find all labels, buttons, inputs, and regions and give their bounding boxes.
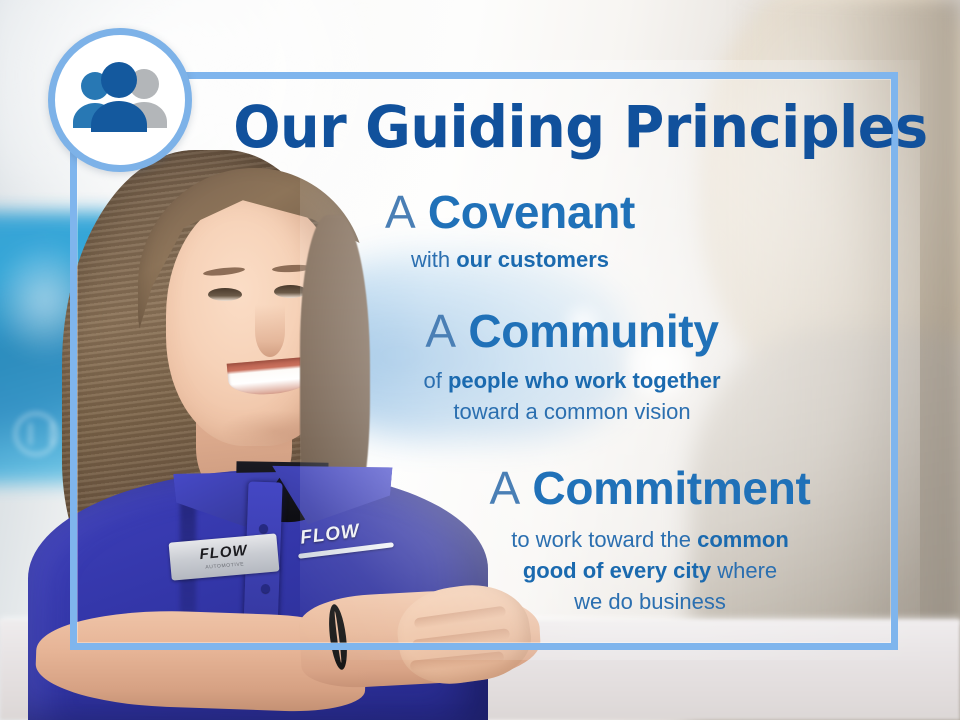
principle-article: A: [385, 186, 428, 238]
principle-subline: good of every city where: [440, 555, 860, 586]
subtext-plain: to work toward the: [511, 527, 697, 552]
name-badge-subtext: AUTOMOTIVE: [205, 561, 244, 570]
principle-subline: to work toward the common: [440, 524, 860, 555]
subtext-emphasis: good of every city: [523, 558, 711, 583]
principle-subline: toward a common vision: [392, 396, 752, 427]
name-badge-logo: FLOW: [199, 543, 248, 562]
eye-left: [208, 288, 242, 301]
shirt-button: [259, 524, 268, 533]
principle-article: A: [425, 305, 468, 357]
people-group-icon: [48, 28, 192, 172]
principle-subline: with our customers: [330, 244, 690, 275]
principle-subtext: to work toward the common good of every …: [440, 524, 860, 617]
principle-keyword: Community: [468, 305, 718, 357]
subtext-emphasis: our customers: [456, 247, 609, 272]
principle-heading: A Covenant: [330, 186, 690, 238]
principle-subline: of people who work together: [392, 365, 752, 396]
page-title: Our Guiding Principles: [233, 96, 867, 158]
subtext-plain: toward a common vision: [453, 399, 690, 424]
guiding-principles-banner: FLOW AUTOMOTIVE FLOW: [0, 0, 960, 720]
principle-heading: A Community: [392, 305, 752, 357]
subtext-emphasis: people who work together: [448, 368, 721, 393]
principle-article: A: [489, 462, 532, 514]
principle-community: A Community of people who work together …: [392, 305, 752, 427]
principle-subline: we do business: [440, 586, 860, 617]
principle-keyword: Covenant: [428, 186, 635, 238]
subtext-emphasis: common: [697, 527, 789, 552]
principle-keyword: Commitment: [532, 462, 810, 514]
principle-subtext: with our customers: [330, 244, 690, 275]
subtext-plain: of: [423, 368, 447, 393]
principle-heading: A Commitment: [440, 462, 860, 514]
subtext-plain: we do business: [574, 589, 726, 614]
subtext-plain: with: [411, 247, 456, 272]
shirt-button: [261, 584, 270, 593]
nose: [255, 305, 285, 357]
principle-commitment: A Commitment to work toward the common g…: [440, 462, 860, 617]
principle-subtext: of people who work together toward a com…: [392, 365, 752, 427]
subtext-plain: where: [711, 558, 777, 583]
principle-covenant: A Covenant with our customers: [330, 186, 690, 275]
